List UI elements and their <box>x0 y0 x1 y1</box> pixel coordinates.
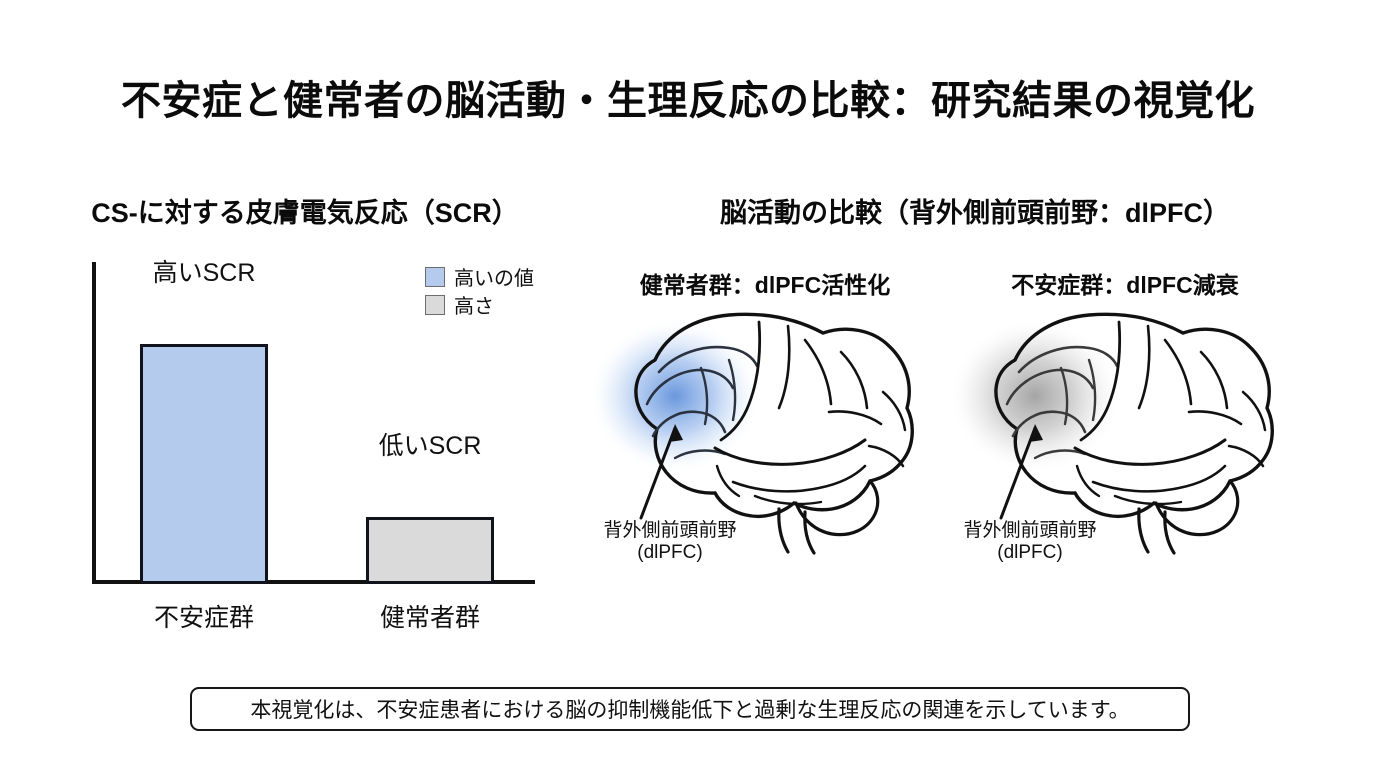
sulcus-parietal-3 <box>1189 412 1241 425</box>
page-title: 不安症と健常者の脳活動・生理反応の比較：研究結果の視覚化 <box>0 68 1376 126</box>
temporal-sulcus-2 <box>755 496 821 504</box>
dlpfc-annotation-anxiety: 背外側前頭前野 (dlPFC) <box>930 520 1130 565</box>
bar-value-label-control: 低いSCR <box>344 426 516 462</box>
bar-category-label-anxiety: 不安症群 <box>118 598 290 634</box>
brainstem-outline <box>1139 509 1148 552</box>
sulcus-occipital-1 <box>1243 392 1265 430</box>
dlpfc-annotation-line2: (dlPFC) <box>930 542 1130 564</box>
temporal-pole-line <box>717 466 739 496</box>
sulcus-occipital-2 <box>869 446 903 466</box>
bar-anxiety-group <box>140 344 268 584</box>
right-panel-heading: 脳活動の比較（背外側前頭前野：dlPFC） <box>655 191 1295 230</box>
legend-item-high: 高いの値 <box>425 263 534 290</box>
left-panel-heading: CS-に対する皮膚電気反応（SCR） <box>60 191 550 230</box>
sulcus-parietal-2 <box>1201 352 1227 408</box>
brainstem-outline-2 <box>805 512 814 553</box>
sulcus-parietal-1 <box>805 340 831 404</box>
brainstem-outline <box>779 509 788 552</box>
dlpfc-annotation-control: 背外側前頭前野 (dlPFC) <box>570 520 770 565</box>
legend-label-height: 高さ <box>454 290 494 319</box>
legend-swatch-gray <box>425 295 445 315</box>
precentral-sulcus <box>1139 326 1149 408</box>
sulcus-parietal-2 <box>841 352 867 408</box>
bar-control-group <box>366 517 494 584</box>
temporal-sulcus-1 <box>1093 466 1225 491</box>
sulcus-parietal-3 <box>829 412 881 425</box>
sulcus-occipital-2 <box>1229 446 1263 466</box>
temporal-pole-line <box>1077 466 1099 496</box>
sulcus-parietal-1 <box>1165 340 1191 404</box>
brain-subtitle-anxiety: 不安症群：dlPFC減衰 <box>935 266 1315 300</box>
dlpfc-annotation-line1: 背外側前頭前野 <box>930 520 1130 542</box>
bar-value-label-anxiety: 高いSCR <box>118 253 290 289</box>
dlpfc-annotation-line1: 背外側前頭前野 <box>570 520 770 542</box>
brain-subtitle-control: 健常者群：dlPFC活性化 <box>575 266 955 300</box>
legend-label-high: 高いの値 <box>454 262 534 291</box>
precentral-sulcus <box>779 326 789 408</box>
temporal-sulcus-1 <box>733 466 865 491</box>
infographic-canvas: 不安症と健常者の脳活動・生理反応の比較：研究結果の視覚化 CS-に対する皮膚電気… <box>0 0 1376 768</box>
sulcus-occipital-1 <box>883 392 905 430</box>
dlpfc-annotation-line2: (dlPFC) <box>570 542 770 564</box>
summary-caption-text: 本視覚化は、不安症患者における脳の抑制機能低下と過剰な生理反応の関連を示していま… <box>250 694 1129 724</box>
chart-legend: 高いの値 高さ <box>425 263 534 319</box>
temporal-sulcus-2 <box>1115 496 1181 504</box>
summary-caption-box: 本視覚化は、不安症患者における脳の抑制機能低下と過剰な生理反応の関連を示していま… <box>190 687 1190 731</box>
brain-panel-anxiety: 不安症群：dlPFC減衰 <box>935 258 1315 588</box>
brain-panel-control: 健常者群：dlPFC活性化 <box>575 258 955 588</box>
legend-item-height: 高さ <box>425 291 534 318</box>
chart-y-axis <box>92 262 96 584</box>
bar-category-label-control: 健常者群 <box>344 598 516 634</box>
legend-swatch-blue <box>425 267 445 287</box>
brainstem-outline-2 <box>1165 512 1174 553</box>
